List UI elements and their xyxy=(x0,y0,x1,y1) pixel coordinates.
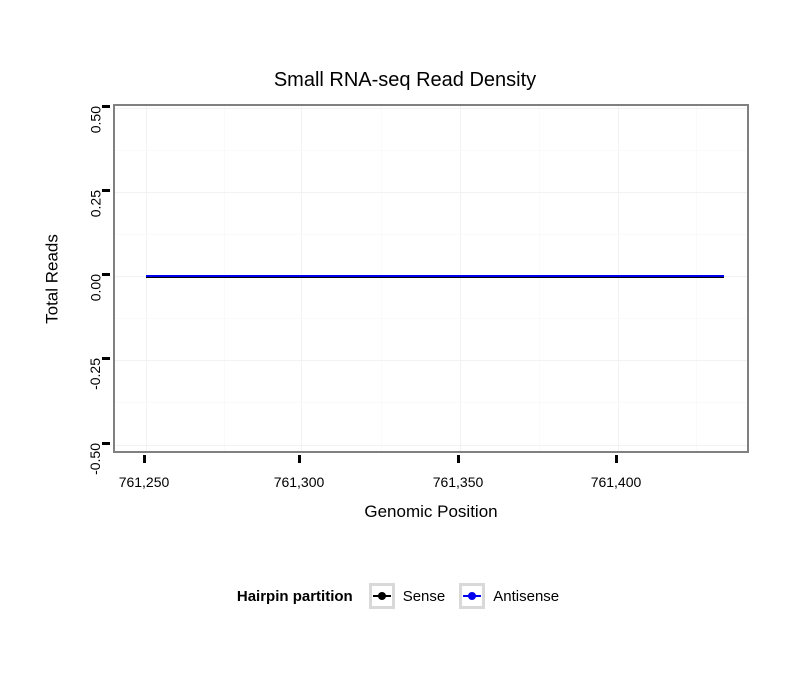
x-axis-tick xyxy=(298,455,301,463)
series-line-antisense xyxy=(146,275,724,277)
y-axis-title-text: Total Reads xyxy=(42,234,63,324)
plot-panel xyxy=(113,104,749,453)
legend-key-antisense xyxy=(459,583,485,609)
legend-key-point xyxy=(468,592,476,600)
x-axis-tick-label: 761,400 xyxy=(556,474,676,491)
x-axis-tick-label: 761,300 xyxy=(239,474,359,491)
legend-item-antisense[interactable]: Antisense xyxy=(459,583,559,609)
legend-key-sense xyxy=(369,583,395,609)
legend-title: Hairpin partition xyxy=(237,588,353,605)
x-axis-tick-label: 761,250 xyxy=(84,474,204,491)
y-axis-tick-label: 0.00 xyxy=(86,274,104,301)
y-axis-title: Total Reads xyxy=(41,104,63,453)
y-axis-tick-label: -0.50 xyxy=(86,443,104,475)
legend: Hairpin partition SenseAntisense xyxy=(0,583,810,609)
x-axis-tick xyxy=(143,455,146,463)
legend-item-label: Sense xyxy=(403,587,446,606)
chart-figure: Small RNA-seq Read Density 761,250761,30… xyxy=(0,0,810,690)
legend-key-point xyxy=(378,592,386,600)
x-axis-tick xyxy=(615,455,618,463)
y-axis-tick-label: 0.25 xyxy=(86,190,104,217)
legend-item-label: Antisense xyxy=(493,587,559,606)
x-axis-title: Genomic Position xyxy=(113,501,749,522)
y-axis-tick-label: 0.50 xyxy=(86,106,104,133)
legend-items: SenseAntisense xyxy=(369,583,573,609)
legend-item-sense[interactable]: Sense xyxy=(369,583,446,609)
x-axis-tick xyxy=(457,455,460,463)
series-layer xyxy=(115,106,747,451)
chart-title: Small RNA-seq Read Density xyxy=(0,68,810,92)
y-axis-tick-label: -0.25 xyxy=(86,358,104,390)
x-axis-tick-label: 761,350 xyxy=(398,474,518,491)
